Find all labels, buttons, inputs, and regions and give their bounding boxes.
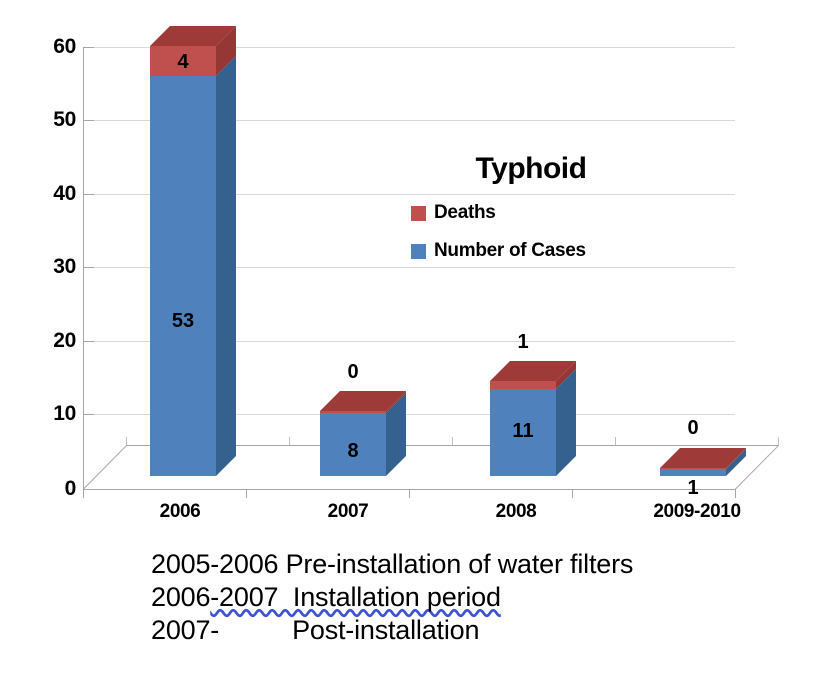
x-tick-back-1 xyxy=(289,437,290,445)
legend-item-number-of-cases[interactable]: Number of Cases xyxy=(411,240,586,262)
bar-value-2008-deaths: 1 xyxy=(490,332,556,352)
bar-value-2007-deaths: 0 xyxy=(320,362,386,382)
column-2006-deaths-segment: 4 xyxy=(150,46,216,76)
y-tick-mark-30 xyxy=(84,267,94,268)
column-2007-cases-segment: 8 xyxy=(320,413,386,476)
chart-page: 60 50 40 30 20 10 0 xyxy=(0,0,835,692)
x-tick-0 xyxy=(83,489,84,498)
bar-value-2009-2010-cases: 1 xyxy=(660,478,726,498)
y-tick-mark-40 xyxy=(84,194,94,195)
bar-value-2007-cases: 8 xyxy=(320,441,386,461)
bar-value-2009-2010-deaths: 0 xyxy=(660,418,726,438)
caption-line-1: 2005-2006 Pre-installation of water filt… xyxy=(151,548,835,581)
caption-line-2: 2006-2007 Installation period xyxy=(151,581,835,614)
caption-line-3: 2007- Post-installation xyxy=(151,614,835,647)
column-2009-2010[interactable]: 1 0 xyxy=(660,468,726,476)
y-tick-mark-60 xyxy=(84,47,94,48)
bar-value-2006-cases: 53 xyxy=(150,311,216,331)
bar-value-2006-deaths: 4 xyxy=(150,52,216,72)
x-tick-back-3 xyxy=(615,437,616,445)
x-tick-1 xyxy=(246,489,247,498)
y-axis-line xyxy=(83,47,84,489)
x-tick-2 xyxy=(409,489,410,498)
y-tick-label-0: 0 xyxy=(22,478,76,499)
column-2006-cases-segment: 53 xyxy=(150,76,216,476)
legend-label-number-of-cases: Number of Cases xyxy=(434,240,586,262)
x-tick-back-0 xyxy=(126,437,127,445)
x-label-2007: 2007 xyxy=(288,501,408,523)
y-tick-mark-20 xyxy=(84,341,94,342)
y-tick-label-40: 40 xyxy=(22,183,76,204)
legend-item-deaths[interactable]: Deaths xyxy=(411,202,496,224)
x-label-2009-2010: 2009-2010 xyxy=(617,501,777,523)
segment-side-face xyxy=(216,56,236,476)
column-2008[interactable]: 11 1 xyxy=(490,381,556,476)
y-tick-label-50: 50 xyxy=(22,109,76,130)
y-tick-label-10: 10 xyxy=(22,403,76,424)
y-tick-mark-10 xyxy=(84,414,94,415)
x-tick-back-2 xyxy=(452,437,453,445)
chart-plot-area: 60 50 40 30 20 10 0 xyxy=(0,0,835,545)
legend-swatch-number-of-cases xyxy=(411,244,426,259)
segment-side-face xyxy=(556,369,576,476)
legend-label-deaths: Deaths xyxy=(434,202,496,224)
column-2008-cases-segment: 11 xyxy=(490,389,556,476)
x-tick-4 xyxy=(735,489,736,498)
y-tick-mark-0 xyxy=(84,489,94,490)
chart-title: Typhoid xyxy=(386,152,676,186)
column-2007[interactable]: 8 0 xyxy=(320,411,386,476)
y-tick-label-20: 20 xyxy=(22,330,76,351)
segment-front-face xyxy=(150,76,216,476)
segment-front-face xyxy=(490,381,556,389)
column-2009-2010-cases-segment xyxy=(660,469,726,476)
y-tick-mark-50 xyxy=(84,120,94,121)
caption-line-2-prefix: 2006 xyxy=(151,582,210,612)
column-2006[interactable]: 4 53 xyxy=(150,46,216,476)
y-tick-label-30: 30 xyxy=(22,256,76,277)
legend-swatch-deaths xyxy=(411,206,426,221)
segment-front-face xyxy=(660,469,726,476)
y-tick-label-60: 60 xyxy=(22,36,76,57)
column-2008-deaths-segment xyxy=(490,381,556,389)
caption-block: 2005-2006 Pre-installation of water filt… xyxy=(0,548,835,647)
x-tick-3 xyxy=(572,489,573,498)
x-tick-back-4 xyxy=(778,437,779,445)
bar-value-2008-cases: 11 xyxy=(490,421,556,441)
caption-line-2-spellchecked: -2007 Installation period xyxy=(210,582,501,612)
x-label-2006: 2006 xyxy=(120,501,240,523)
x-label-2008: 2008 xyxy=(456,501,576,523)
floor-left-edge xyxy=(83,445,127,490)
